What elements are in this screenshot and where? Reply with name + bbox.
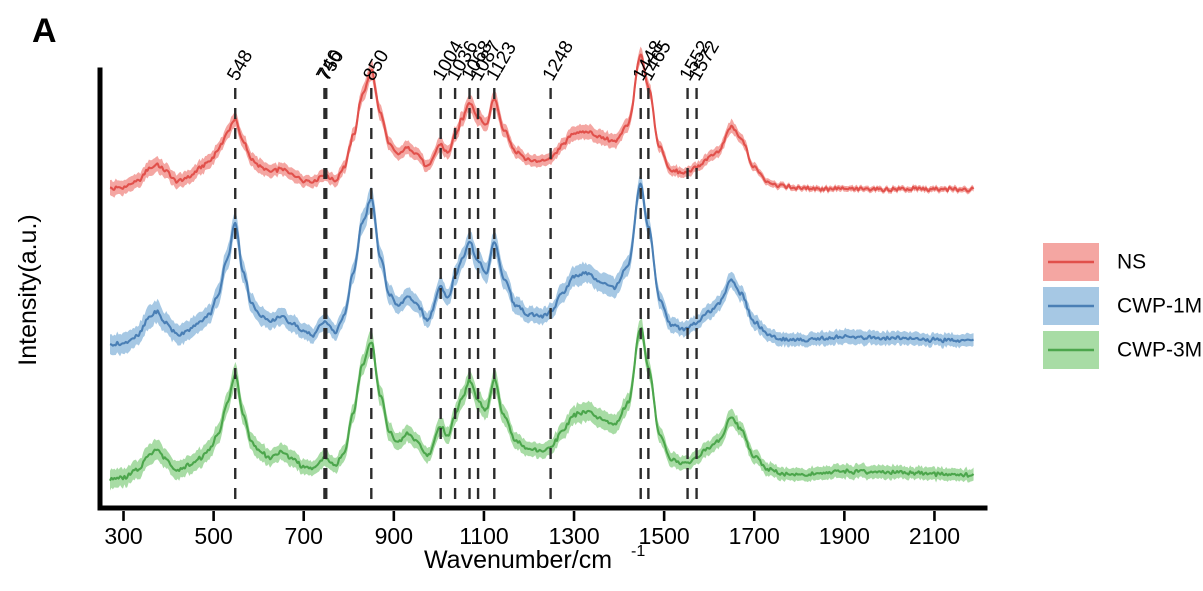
x-axis-title: Wavenumber/cm	[424, 546, 612, 574]
spectra-ribbons	[110, 46, 974, 490]
peak-label-1248: 1248	[539, 37, 578, 84]
raman-spectra-figure: A 54874675085010041036106810871123124814…	[0, 0, 1203, 591]
spectrum-ribbon-cwp-1m	[110, 173, 974, 356]
chart-canvas: A 54874675085010041036106810871123124814…	[0, 0, 1203, 591]
x-axis-ticks: 300500700900110013001500170019002100	[104, 511, 960, 549]
panel-label: A	[32, 12, 57, 50]
x-tick-label-1700: 1700	[729, 523, 780, 549]
legend: NSCWP-1MCWP-3M	[1043, 243, 1202, 369]
legend-label-ns: NS	[1117, 251, 1146, 274]
x-tick-label-900: 900	[375, 523, 413, 549]
y-axis-title: Intensity(a.u.)	[14, 214, 42, 365]
legend-label-cwp-1m: CWP-1M	[1117, 295, 1202, 318]
spectra-lines	[110, 55, 974, 481]
x-tick-label-1900: 1900	[819, 523, 870, 549]
axes-group	[100, 70, 985, 508]
peak-label-850: 850	[359, 47, 393, 85]
peak-label-548: 548	[223, 47, 257, 85]
x-tick-label-700: 700	[285, 523, 323, 549]
legend-label-cwp-3m: CWP-3M	[1117, 339, 1202, 362]
spectrum-ribbon-cwp-3m	[110, 318, 974, 491]
x-tick-label-300: 300	[104, 523, 142, 549]
x-tick-label-2100: 2100	[909, 523, 960, 549]
x-tick-label-1500: 1500	[639, 523, 690, 549]
x-axis-title-superscript: -1	[631, 543, 645, 560]
x-tick-label-500: 500	[194, 523, 232, 549]
